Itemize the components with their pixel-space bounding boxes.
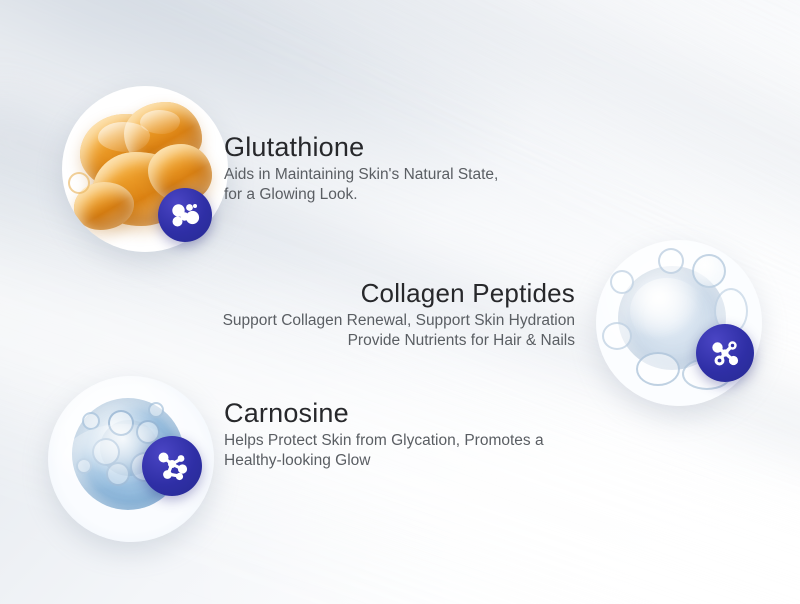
ingredient-image-glutathione [62,86,228,252]
ingredient-text-carnosine: Carnosine Helps Protect Skin from Glycat… [224,398,544,471]
ingredient-image-collagen-peptides [596,240,762,406]
ingredient-body-line: Support Collagen Renewal, Support Skin H… [110,311,575,331]
ingredient-image-carnosine [48,376,214,542]
gel-bubble [610,270,634,294]
dish-backdrop [596,240,762,406]
gel-bubble [148,402,164,418]
gel-bubble [692,254,726,288]
ingredient-benefits-graphic: Glutathione Aids in Maintaining Skin's N… [0,0,800,604]
gel-bubble [602,322,632,350]
ingredient-text-collagen-peptides: Collagen Peptides Support Collagen Renew… [110,278,575,351]
gel-bubble [636,352,680,386]
gel-bubble [68,172,90,194]
badge-peptide-molecule-collagen-peptides [696,324,754,382]
ingredient-body-line: Healthy-looking Glow [224,451,544,471]
badge-molecule-nodes-carnosine [142,436,202,496]
gel-bubble [658,248,684,274]
ingredient-heading-collagen-peptides: Collagen Peptides [110,278,575,309]
ingredient-heading-carnosine: Carnosine [224,398,544,429]
badge-bubbles-glutathione [158,188,212,242]
ingredient-body-line: Provide Nutrients for Hair & Nails [110,331,575,351]
ingredient-text-glutathione: Glutathione Aids in Maintaining Skin's N… [224,132,498,205]
gel-highlight [140,110,180,134]
ingredient-body-line: Aids in Maintaining Skin's Natural State… [224,165,498,185]
ingredient-body-line: Helps Protect Skin from Glycation, Promo… [224,431,544,451]
ingredient-body-line: for a Glowing Look. [224,185,498,205]
gel-highlight [630,278,704,344]
ingredient-heading-glutathione: Glutathione [224,132,498,163]
